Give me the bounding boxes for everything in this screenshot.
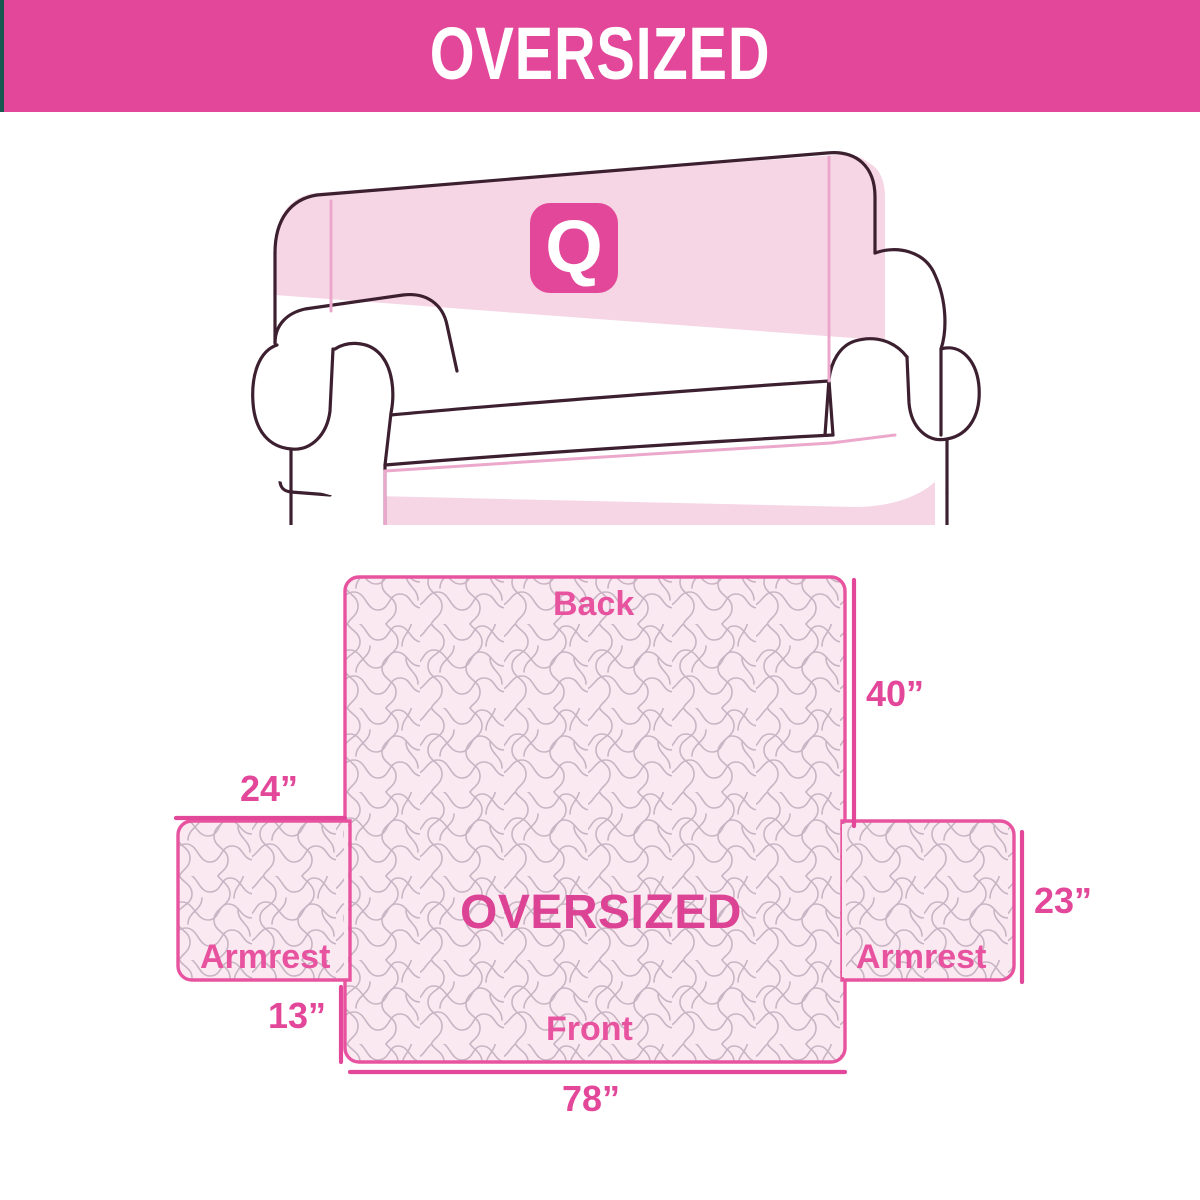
brand-logo-letter: Q [545, 210, 603, 284]
dimension-armrest-width: 24” [240, 768, 298, 810]
label-front: Front [546, 1010, 633, 1049]
dimension-back-height: 40” [866, 673, 924, 715]
brand-logo-badge: Q [530, 203, 618, 293]
sofa-illustration: .ln { fill:none; stroke:#3D2030; stroke-… [235, 135, 995, 525]
label-center-size: OVERSIZED [460, 885, 742, 940]
label-armrest-left: Armrest [200, 938, 330, 977]
label-armrest-right: Armrest [856, 938, 986, 977]
dimension-total-width: 78” [562, 1078, 620, 1120]
diagram-main-body [345, 577, 845, 1062]
dimension-armrest-depth: 23” [1034, 880, 1092, 922]
header-edge-strip [0, 0, 4, 112]
label-back: Back [553, 585, 634, 624]
page-title: OVERSIZED [132, 0, 1068, 112]
header-banner: OVERSIZED [0, 0, 1200, 112]
size-diagram: Back Armrest Armrest Front OVERSIZED 24”… [0, 540, 1200, 1120]
dimension-front-height: 13” [268, 995, 326, 1037]
sofa-drawing-svg: .ln { fill:none; stroke:#3D2030; stroke-… [235, 135, 995, 525]
